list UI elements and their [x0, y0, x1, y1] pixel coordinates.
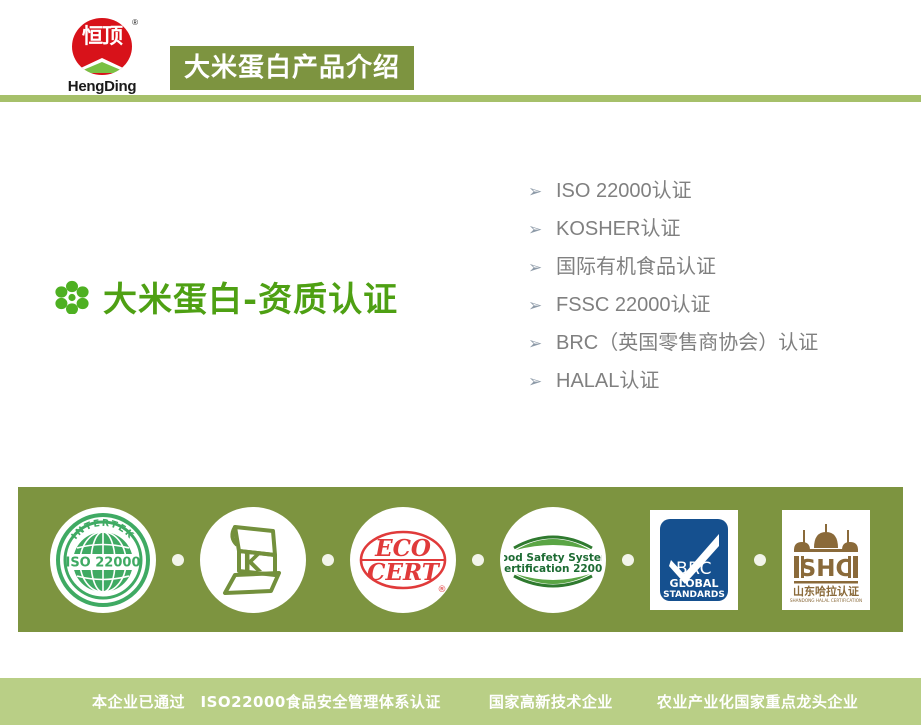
- list-item: ➢ BRC（英国零售商协会）认证: [528, 324, 898, 362]
- svg-text:山东哈拉认证: 山东哈拉认证: [793, 584, 859, 598]
- certification-bullet-list: ➢ ISO 22000认证 ➢ KOSHER认证 ➢ 国际有机食品认证 ➢ FS…: [528, 172, 898, 400]
- svg-text:CERT: CERT: [367, 559, 441, 586]
- footer-inner: 本企业已通过 ISO22000食品安全管理体系认证 国家高新技术企业 农业产业化…: [0, 691, 921, 712]
- section-heading: 大米蛋白-资质认证: [55, 272, 398, 321]
- list-item-label: 国际有机食品认证: [556, 248, 716, 286]
- logo-hill-icon: [72, 56, 132, 73]
- section-heading-text: 大米蛋白-资质认证: [103, 272, 398, 321]
- header-divider: [0, 95, 921, 102]
- arrow-bullet-icon: ➢: [528, 211, 556, 249]
- list-item-label: FSSC 22000认证: [556, 286, 711, 324]
- slide-title-bar: 大米蛋白产品介绍: [170, 46, 414, 90]
- separator-dot: [472, 554, 484, 566]
- svg-text:GLOBAL: GLOBAL: [670, 577, 719, 590]
- ecocert-icon: ECO CERT ®: [356, 520, 450, 600]
- page-title: 大米蛋白产品介绍: [184, 54, 400, 82]
- logo-mark: 恒顶 ®: [66, 18, 138, 76]
- iso-22000-intertek-icon: ISO 22000 INTERTEK: [55, 512, 151, 608]
- separator-dot: [622, 554, 634, 566]
- badge-circle: Food Safety System Certification 22000: [500, 507, 606, 613]
- cert-badge-fssc-22000: Food Safety System Certification 22000: [500, 507, 606, 613]
- fssc-22000-icon: Food Safety System Certification 22000: [504, 524, 602, 596]
- slide-root: 恒顶 ® HengDing 大米蛋白产品介绍: [0, 0, 921, 725]
- arrow-bullet-icon: ➢: [528, 363, 556, 401]
- logo-registered-mark: ®: [132, 19, 138, 27]
- svg-text:BRC: BRC: [676, 559, 712, 579]
- shc-halal-icon: SHC 山东哈拉认证 SHANDONG HALAL CERTIFICATION: [786, 516, 866, 604]
- cert-badge-brc: BRC GLOBAL STANDARDS: [650, 510, 738, 610]
- slide-footer: 本企业已通过 ISO22000食品安全管理体系认证 国家高新技术企业 农业产业化…: [0, 678, 921, 725]
- logo-english-name: HengDing: [48, 78, 156, 95]
- footer-text-dragonhead: 农业产业化国家重点龙头企业: [657, 691, 859, 712]
- separator-dot: [322, 554, 334, 566]
- badge-circle: K: [200, 507, 306, 613]
- separator-dot: [754, 554, 766, 566]
- arrow-bullet-icon: ➢: [528, 249, 556, 287]
- list-item-label: HALAL认证: [556, 362, 659, 400]
- separator-dot: [172, 554, 184, 566]
- cert-badge-iso-22000: ISO 22000 INTERTEK: [50, 507, 156, 613]
- arrow-bullet-icon: ➢: [528, 173, 556, 211]
- kosher-k-icon: K: [209, 515, 297, 605]
- company-logo: 恒顶 ® HengDing: [48, 18, 156, 96]
- svg-text:ISO 22000: ISO 22000: [65, 555, 140, 570]
- svg-text:®: ®: [438, 585, 447, 595]
- cert-badge-ecocert: ECO CERT ®: [350, 507, 456, 613]
- list-item: ➢ KOSHER认证: [528, 210, 898, 248]
- cert-badge-shc-halal: SHC 山东哈拉认证 SHANDONG HALAL CERTIFICATION: [782, 510, 870, 610]
- cert-badge-kosher: K: [200, 507, 306, 613]
- arrow-bullet-icon: ➢: [528, 287, 556, 325]
- arrow-bullet-icon: ➢: [528, 325, 556, 363]
- list-item-label: ISO 22000认证: [556, 172, 692, 210]
- badge-square: SHC 山东哈拉认证 SHANDONG HALAL CERTIFICATION: [782, 510, 870, 610]
- badge-circle: ECO CERT ®: [350, 507, 456, 613]
- svg-text:SHC: SHC: [800, 556, 853, 582]
- footer-text-iso: 本企业已通过 ISO22000食品安全管理体系认证: [92, 691, 441, 712]
- list-item: ➢ HALAL认证: [528, 362, 898, 400]
- slide-header: 恒顶 ® HengDing 大米蛋白产品介绍: [0, 0, 921, 102]
- list-item: ➢ ISO 22000认证: [528, 172, 898, 210]
- svg-text:ECO: ECO: [374, 535, 431, 562]
- badge-circle: ISO 22000 INTERTEK: [50, 507, 156, 613]
- list-item: ➢ FSSC 22000认证: [528, 286, 898, 324]
- logo-red-circle: 恒顶: [72, 18, 132, 75]
- list-item: ➢ 国际有机食品认证: [528, 248, 898, 286]
- list-item-label: KOSHER认证: [556, 210, 680, 248]
- certification-logo-band: ISO 22000 INTERTEK: [18, 487, 903, 632]
- svg-text:K: K: [243, 549, 263, 577]
- footer-text-hightech: 国家高新技术企业: [489, 691, 613, 712]
- list-item-label: BRC（英国零售商协会）认证: [556, 324, 818, 362]
- flower-icon: [55, 280, 89, 314]
- svg-text:SHANDONG HALAL CERTIFICATION: SHANDONG HALAL CERTIFICATION: [790, 598, 862, 603]
- svg-text:Certification 22000: Certification 22000: [504, 563, 602, 575]
- logo-chinese-name: 恒顶: [72, 24, 132, 48]
- badge-square: BRC GLOBAL STANDARDS: [650, 510, 738, 610]
- svg-text:STANDARDS: STANDARDS: [663, 590, 725, 600]
- brc-global-standards-icon: BRC GLOBAL STANDARDS: [657, 516, 731, 604]
